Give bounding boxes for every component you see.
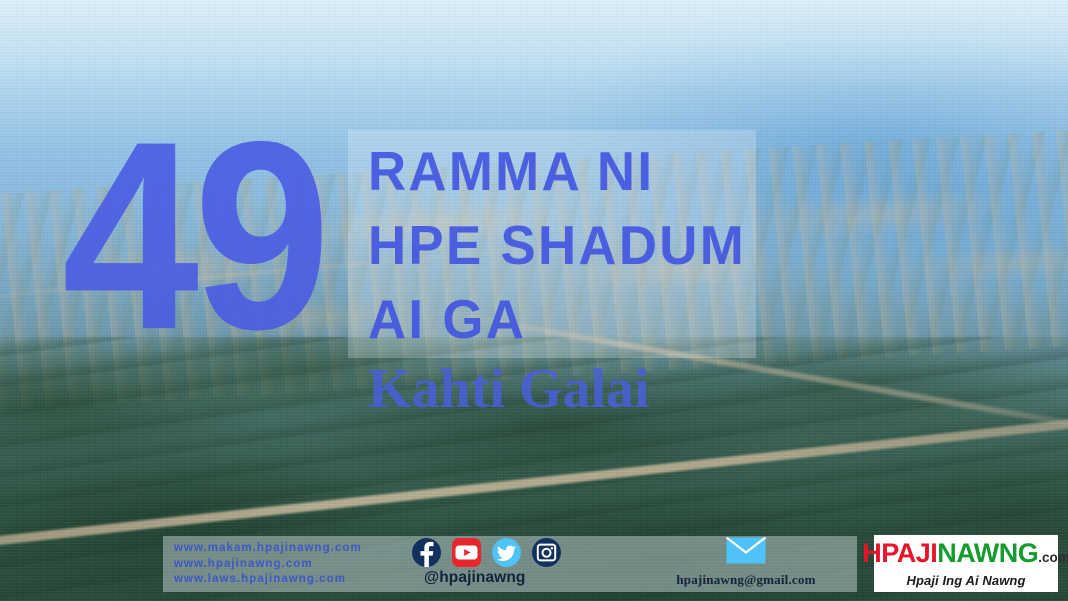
issue-number: 49	[62, 112, 325, 359]
website-link-makam[interactable]: www.makam.hpajinawng.com	[174, 541, 362, 557]
logo-wordmark: HPAJINAWNG.com	[862, 538, 1068, 573]
instagram-icon[interactable]	[532, 538, 561, 567]
social-handle: @hpajinawng	[412, 569, 588, 587]
logo-part-tld: .com	[1038, 550, 1068, 565]
logo-part-hpaji: HPAJI	[862, 538, 937, 568]
headline-line-2: HPE SHADUM	[368, 208, 771, 282]
logo-part-nawng: NAWNG	[937, 538, 1038, 568]
envelope-icon-wrap	[648, 537, 844, 569]
social-block: @hpajinawng	[412, 538, 588, 587]
headline-line-3: AI GA	[368, 282, 771, 356]
email-block: hpajinawng@gmail.com	[648, 537, 844, 588]
brand-logo[interactable]: HPAJINAWNG.com Hpaji Ing Ai Nawng	[874, 535, 1058, 592]
logo-tagline: Hpaji Ing Ai Nawng	[906, 573, 1025, 589]
headline-subtitle: Kahti Galai	[368, 360, 650, 418]
twitter-icon[interactable]	[492, 538, 521, 567]
envelope-icon[interactable]	[726, 537, 766, 569]
email-address[interactable]: hpajinawng@gmail.com	[648, 572, 844, 588]
banner-root: 49 RAMMA NI HPE SHADUM AI GA Kahti Galai…	[0, 0, 1068, 601]
website-link-main[interactable]: www.hpajinawng.com	[174, 557, 362, 573]
facebook-icon[interactable]	[412, 538, 441, 567]
headline-block: RAMMA NI HPE SHADUM AI GA	[368, 134, 788, 356]
social-icon-row	[412, 538, 588, 567]
website-list: www.makam.hpajinawng.com www.hpajinawng.…	[174, 541, 362, 588]
headline-line-1: RAMMA NI	[368, 134, 771, 208]
youtube-icon[interactable]	[452, 538, 481, 567]
website-link-laws[interactable]: www.laws.hpajinawng.com	[174, 572, 362, 588]
